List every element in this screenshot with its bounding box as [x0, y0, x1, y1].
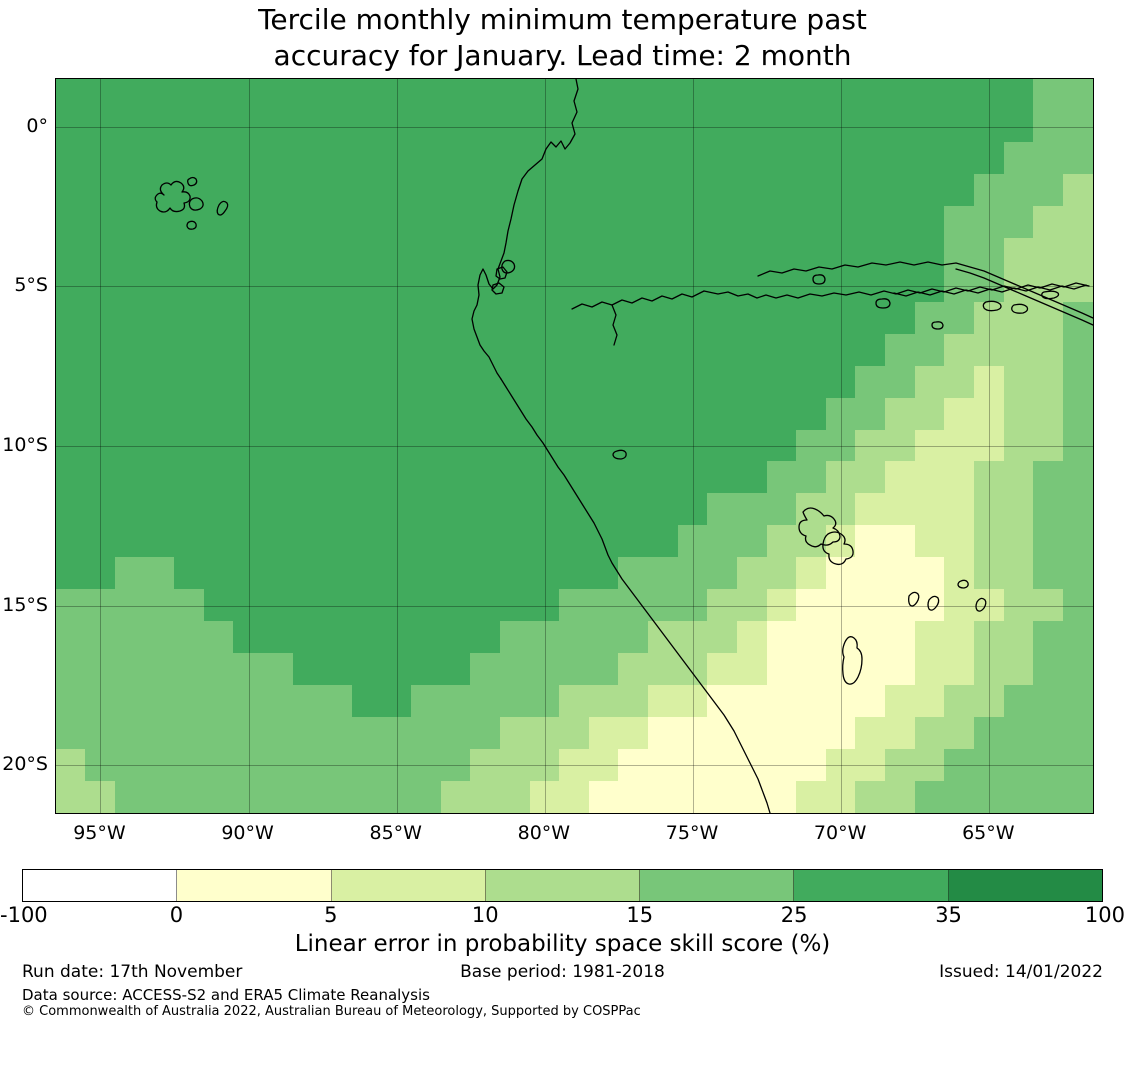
- latitude-tick-label: 0°: [0, 115, 48, 137]
- colorbar-segment: [177, 870, 331, 901]
- longitude-tick-label: 65°W: [962, 822, 1014, 844]
- longitude-tick-label: 90°W: [221, 822, 273, 844]
- colorbar-tick-label: 100: [1085, 903, 1125, 927]
- longitude-tick-label: 75°W: [666, 822, 718, 844]
- colorbar-segment: [640, 870, 794, 901]
- map-plot-area: [55, 78, 1094, 814]
- longitude-tick-label: 95°W: [73, 822, 125, 844]
- title-line-2: accuracy for January. Lead time: 2 month: [0, 38, 1125, 74]
- colorbar-tick-label: 35: [935, 903, 962, 927]
- colorbar-tick-label: 5: [324, 903, 337, 927]
- title-line-1: Tercile monthly minimum temperature past: [258, 3, 867, 36]
- latitude-tick-label: 15°S: [0, 594, 48, 616]
- colorbar-tick-label: 15: [626, 903, 653, 927]
- latitude-tick-label: 10°S: [0, 434, 48, 456]
- gridline-horizontal: [56, 127, 1093, 128]
- colorbar: [22, 869, 1103, 902]
- data-source-text: Data source: ACCESS-S2 and ERA5 Climate …: [22, 986, 430, 1004]
- longitude-tick-label: 80°W: [518, 822, 570, 844]
- longitude-tick-label: 70°W: [814, 822, 866, 844]
- latitude-tick-label: 5°S: [0, 274, 48, 296]
- colorbar-segment: [23, 870, 177, 901]
- colorbar-tick-label: 0: [170, 903, 183, 927]
- climate-skill-map-page: Tercile monthly minimum temperature past…: [0, 0, 1125, 1065]
- colorbar-tick-label: 10: [472, 903, 499, 927]
- gridline-horizontal: [56, 765, 1093, 766]
- longitude-tick-label: 85°W: [369, 822, 421, 844]
- map-gridlines: [56, 79, 1093, 813]
- gridline-horizontal: [56, 606, 1093, 607]
- colorbar-label: Linear error in probability space skill …: [0, 931, 1125, 957]
- colorbar-segment: [332, 870, 486, 901]
- colorbar-segment: [949, 870, 1102, 901]
- colorbar-tick-label: 25: [781, 903, 808, 927]
- page-title: Tercile monthly minimum temperature past…: [0, 0, 1125, 74]
- copyright-text: © Commonwealth of Australia 2022, Austra…: [22, 1004, 641, 1019]
- latitude-tick-label: 20°S: [0, 753, 48, 775]
- gridline-horizontal: [56, 286, 1093, 287]
- colorbar-segment: [794, 870, 948, 901]
- issued-date-text: Issued: 14/01/2022: [939, 962, 1103, 982]
- gridline-horizontal: [56, 446, 1093, 447]
- colorbar-segment: [486, 870, 640, 901]
- colorbar-tick-label: -100: [0, 903, 48, 927]
